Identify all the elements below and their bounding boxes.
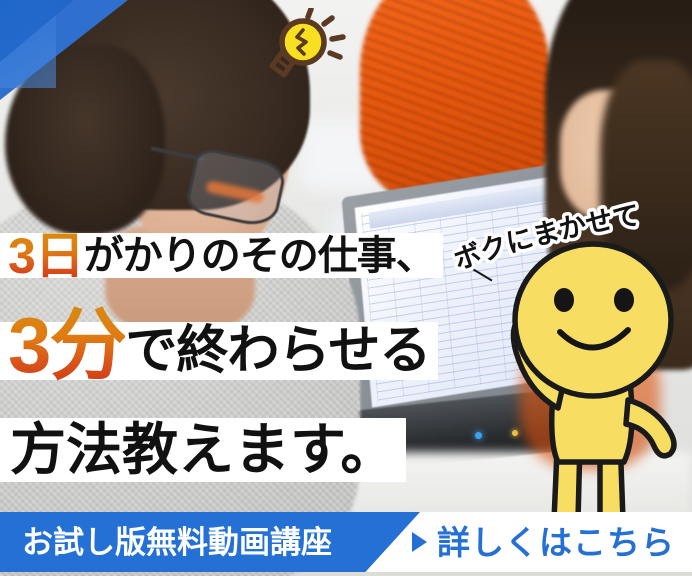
headline-2-highlight: 3分 — [8, 306, 125, 384]
mascot-head — [515, 244, 671, 396]
play-arrow-icon — [412, 532, 427, 552]
cta-bar[interactable]: お試し版無料動画講座 詳しくはこちら — [0, 512, 692, 572]
headline-2-text: で終わらせる — [125, 325, 430, 377]
headline-3-text: 方法教えます。 — [10, 422, 396, 478]
cta-primary-label: お試し版無料動画講座 — [0, 527, 332, 558]
headline-1-text: がかりのその仕事、 — [84, 236, 435, 276]
headline-line-2: 3分 で終わらせる — [0, 322, 438, 380]
yellow-mascot — [488, 232, 692, 532]
cta-link-label: 詳しくはこちら — [437, 526, 675, 559]
corner-badge-inner — [0, 0, 74, 62]
lightbulb-icon — [258, 8, 350, 82]
headline-line-3: 方法教えます。 — [0, 418, 406, 482]
headline-1-highlight: 3日 — [8, 231, 84, 281]
cta-primary-block[interactable]: お試し版無料動画講座 — [0, 512, 420, 572]
headline-line-1: 3日 がかりのその仕事、 — [0, 233, 443, 278]
mascot-arm-right — [626, 400, 674, 456]
ad-banner[interactable]: ボクにまかせて ボクにまかせて — [0, 0, 692, 576]
cta-detail-link[interactable]: 詳しくはこちら — [412, 512, 675, 572]
mascot-eye-right — [614, 288, 634, 312]
mascot-eye-left — [554, 288, 574, 312]
